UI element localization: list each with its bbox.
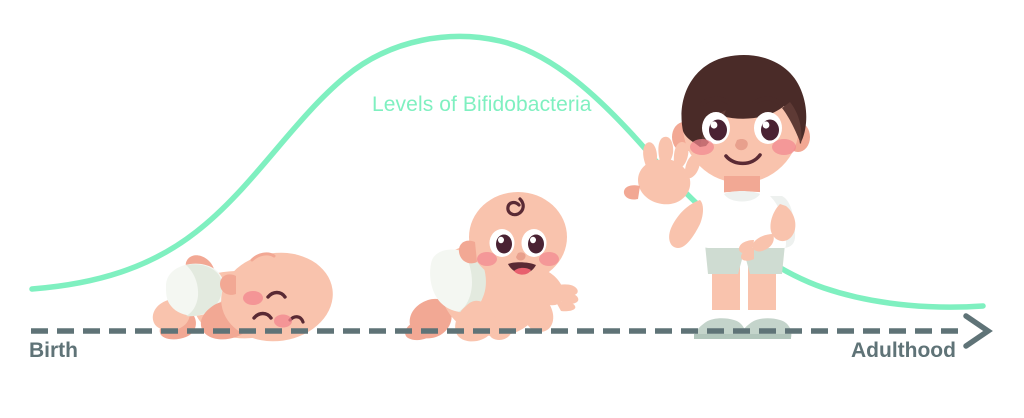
axis-start-label-birth: Birth	[29, 339, 78, 363]
arrow-right-icon	[966, 316, 988, 346]
axis-end-label-adulthood: Adulthood	[851, 339, 956, 363]
infographic-canvas: Levels of Bifidobacteria	[0, 0, 1024, 418]
